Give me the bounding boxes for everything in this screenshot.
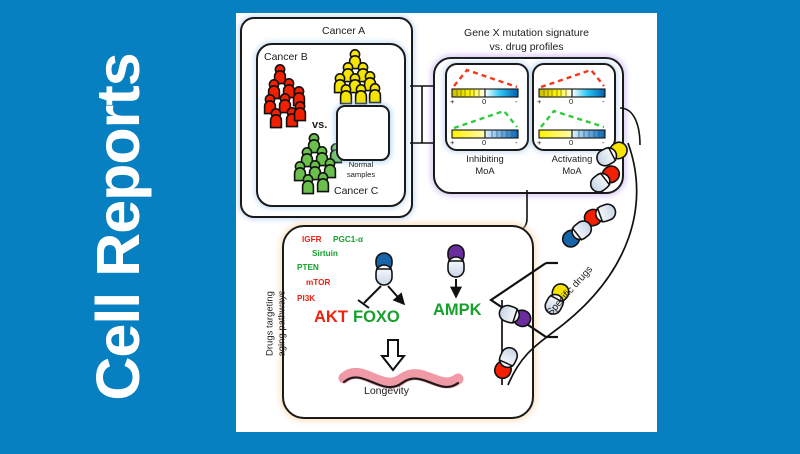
node-ampk: AMPK — [433, 301, 482, 320]
comparison-label: vs. — [312, 119, 327, 131]
moa-axis-minus: - — [602, 138, 605, 147]
moa-axis-zero: 0 — [482, 138, 486, 147]
cohort-label-cancer-b: Cancer B — [264, 51, 308, 63]
moa-axis-plus: + — [450, 97, 454, 106]
normal-samples-box — [336, 105, 390, 161]
gene-sirtuin: Sirtuin — [312, 249, 338, 258]
aging-side-label-line2: aging pathways — [277, 264, 288, 384]
specific-drugs-label: Specific drugs — [545, 264, 595, 318]
signature-title-line2: vs. drug profiles — [435, 41, 618, 53]
node-akt: AKT — [314, 308, 348, 327]
gene-pten: PTEN — [297, 263, 319, 272]
gene-pgc1a: PGC1-α — [333, 235, 363, 244]
moa-caption-inhibiting-line2: MoA — [445, 165, 525, 176]
gene-pi3k: PI3K — [297, 294, 315, 303]
cohort-label-cancer-a: Cancer A — [322, 25, 365, 37]
gene-mtor: mTOR — [306, 278, 330, 287]
moa-axis-zero: 0 — [569, 97, 573, 106]
signature-title-line1: Gene X mutation signature — [435, 27, 618, 39]
moa-axis-minus: - — [602, 97, 605, 106]
aging-side-label-line1: Drugs targeting — [265, 264, 276, 384]
graphical-abstract: Cell Reports Patients with Gene X mutati… — [0, 0, 800, 454]
capsule-red-2 — [582, 202, 618, 228]
figure-canvas: Patients with Gene X mutation Cancer A C… — [236, 13, 657, 432]
moa-axis-plus: + — [537, 138, 541, 147]
node-foxo: FOXO — [353, 308, 400, 327]
moa-axis-plus: + — [450, 138, 454, 147]
moa-axis-plus: + — [537, 97, 541, 106]
normal-samples-caption-line2: samples — [336, 170, 386, 179]
capsule-blue-1 — [559, 218, 594, 250]
moa-axis-zero: 0 — [569, 138, 573, 147]
journal-brand-strip: Cell Reports — [0, 0, 236, 454]
moa-caption-activating-line2: MoA — [532, 165, 612, 176]
moa-axis-minus: - — [515, 97, 518, 106]
journal-title: Cell Reports — [83, 53, 153, 400]
moa-axis-zero: 0 — [482, 97, 486, 106]
moa-caption-activating-line1: Activating — [532, 153, 612, 164]
normal-samples-caption-line1: Normal — [336, 160, 386, 169]
moa-caption-inhibiting-line1: Inhibiting — [445, 153, 525, 164]
patients-to-signature-connector — [410, 86, 433, 143]
gene-igfr: IGFR — [302, 235, 322, 244]
cohort-label-cancer-c: Cancer C — [334, 185, 378, 197]
outcome-label: Longevity — [364, 385, 409, 397]
moa-axis-minus: - — [515, 138, 518, 147]
